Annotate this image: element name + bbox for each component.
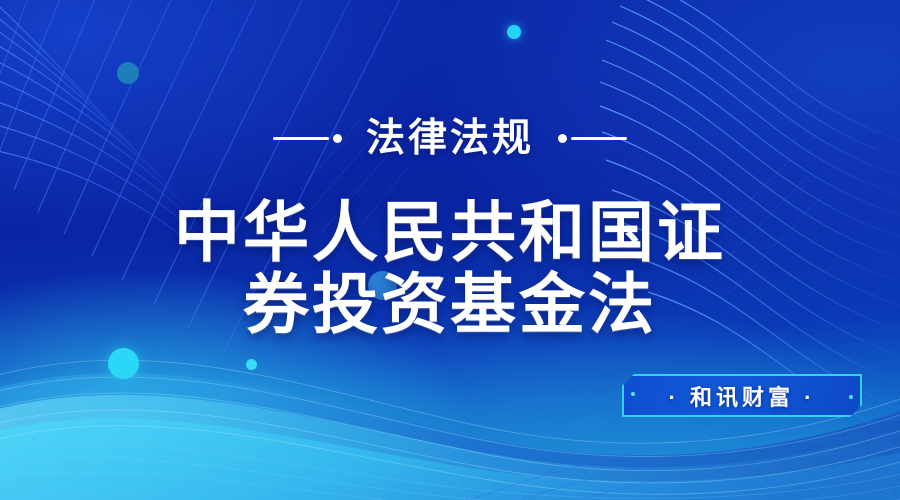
- left-rule-bar: [273, 137, 329, 140]
- cyan-dot-top-decoration: [507, 25, 521, 39]
- right-rule-bar: [571, 137, 627, 140]
- badge-corner-dot-top-left: [631, 392, 635, 396]
- banner-image: 法律法规 中华人民共和国证 券投资基金法 · 和讯财富 ·: [0, 0, 900, 500]
- cyan-circle-bottom-decoration: [108, 348, 139, 379]
- badge-corner-dot-bottom-right: [849, 395, 853, 399]
- left-rule-decoration: [273, 134, 342, 143]
- brand-badge-label: · 和讯财富 ·: [669, 380, 816, 412]
- cyan-dot-small-decoration: [246, 359, 257, 370]
- teal-circle-decoration: [117, 62, 139, 84]
- right-rule-decoration: [558, 134, 627, 143]
- page-title-line-1: 中华人民共和国证: [0, 196, 900, 268]
- page-title-line-2: 券投资基金法: [0, 268, 900, 340]
- brand-badge: · 和讯财富 ·: [622, 374, 862, 417]
- left-rule-dot: [333, 134, 342, 143]
- subtitle-text: 法律法规: [366, 119, 534, 158]
- subtitle-row: 法律法规: [0, 113, 900, 163]
- page-title: 中华人民共和国证 券投资基金法: [0, 196, 900, 340]
- right-rule-dot: [558, 134, 567, 143]
